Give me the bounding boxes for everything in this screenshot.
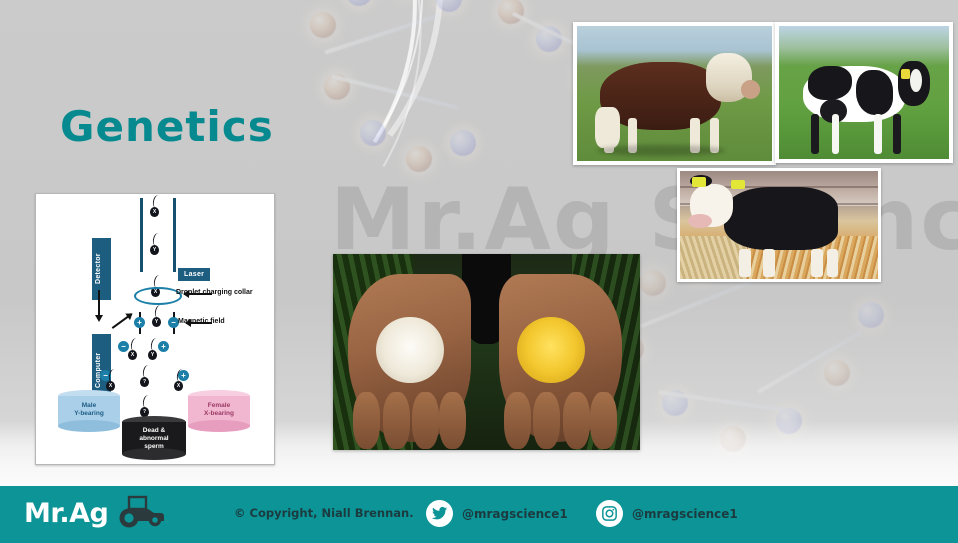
- dead-collector-line1: Dead &: [122, 427, 186, 435]
- instagram-handle: @mragscience1: [632, 507, 738, 521]
- droplet-charging-collar: [134, 287, 182, 305]
- dead-abnormal-collector-cylinder: Dead & abnormal sperm: [122, 416, 186, 462]
- brand-logo: Mr.Ag: [24, 494, 168, 533]
- calf-on-straw-photo: [677, 168, 881, 282]
- sperm-cell: ?: [140, 376, 149, 387]
- golden-rice-hands-photo: [333, 254, 640, 450]
- male-collector-line1: Male: [58, 402, 120, 410]
- female-collector-line2: X-bearing: [188, 410, 250, 418]
- sperm-cell: X: [128, 349, 137, 360]
- twitter-icon: [426, 500, 453, 527]
- sperm-marker: Y: [150, 245, 159, 255]
- page-title: Genetics: [60, 106, 274, 148]
- male-collector-cylinder: Male Y-bearing: [58, 390, 120, 434]
- golden-rice-pile: [517, 317, 585, 384]
- twitter-link[interactable]: @mragscience1: [426, 500, 568, 527]
- tractor-icon: [116, 494, 168, 533]
- droplet-charging-collar-label: Droplet charging collar: [176, 289, 253, 296]
- copyright-text: © Copyright, Niall Brennan.: [234, 506, 414, 520]
- calf-image: [680, 171, 878, 279]
- female-collector-cylinder: Female X-bearing: [188, 390, 250, 434]
- hereford-bull-image: [577, 26, 772, 161]
- sperm-cell: X: [150, 206, 159, 217]
- dead-collector-line2: abnormal: [122, 435, 186, 443]
- presentation-slide: Mr.Ag Science Genetics: [0, 0, 958, 543]
- male-collector-line2: Y-bearing: [58, 410, 120, 418]
- white-rice-pile: [376, 317, 444, 384]
- instagram-icon: [596, 500, 623, 527]
- positive-charge-icon: +: [134, 317, 145, 328]
- female-collector-line1: Female: [188, 402, 250, 410]
- sperm-marker: Y: [148, 350, 157, 360]
- sperm-marker: X: [150, 207, 159, 217]
- detector-arrow: [98, 290, 100, 316]
- brand-name: Mr.Ag: [24, 498, 108, 529]
- sperm-marker: X: [128, 350, 137, 360]
- detector-label: Detector: [92, 238, 111, 300]
- sperm-cell: X: [174, 380, 183, 391]
- sperm-marker: ?: [140, 377, 149, 387]
- dead-collector-line3: sperm: [122, 443, 186, 451]
- laser-label: Laser: [178, 268, 210, 281]
- sperm-cell: Y: [148, 349, 157, 360]
- slide-footer: Mr.Ag © Copyright, Niall Brennan. @mr: [0, 486, 958, 543]
- holstein-friesian-cow-photo: [775, 22, 953, 163]
- computer-arrow: [112, 313, 133, 329]
- positive-charge-icon: +: [158, 341, 169, 352]
- sperm-cell: Y: [152, 316, 161, 327]
- sperm-marker: Y: [152, 317, 161, 327]
- instagram-link[interactable]: @mragscience1: [596, 500, 738, 527]
- golden-rice-image: [333, 254, 640, 450]
- sperm-sexing-flow-cytometry-diagram: X Y Detector Computer Laser X Droplet ch…: [35, 193, 275, 465]
- sperm-cell: Y: [150, 244, 159, 255]
- hereford-bull-photo: [573, 22, 776, 165]
- sperm-marker: X: [174, 381, 183, 391]
- magnetic-field-label: Magnetic field: [178, 318, 225, 325]
- holstein-cow-image: [779, 26, 949, 159]
- twitter-handle: @mragscience1: [462, 507, 568, 521]
